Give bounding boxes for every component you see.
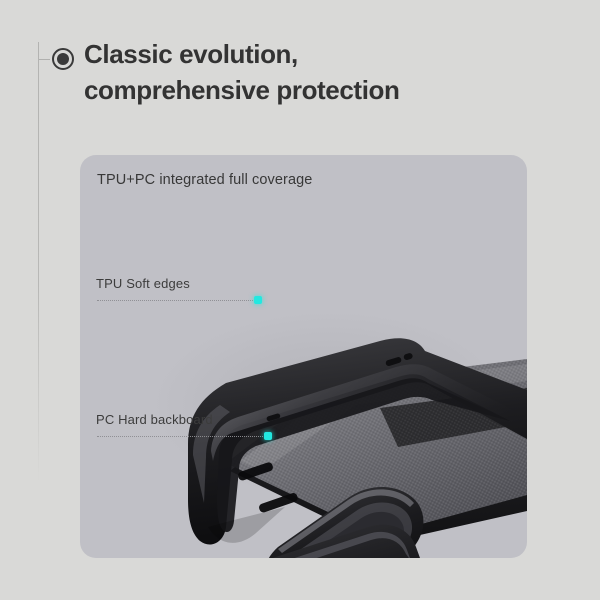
callout-marker-dot xyxy=(254,296,262,304)
header: Classic evolution, comprehensive protect… xyxy=(0,0,600,155)
target-radio-icon xyxy=(52,48,74,70)
product-illustration xyxy=(80,155,527,558)
vertical-rule-decoration xyxy=(38,42,39,482)
page-title: Classic evolution, comprehensive protect… xyxy=(84,36,554,108)
rule-tick-decoration xyxy=(39,59,50,60)
callout-marker-dot xyxy=(264,432,272,440)
feature-card: TPU+PC integrated full coverage xyxy=(80,155,527,558)
callout-label: TPU Soft edges xyxy=(96,276,190,291)
callout-leader-line xyxy=(97,300,257,301)
product-image xyxy=(80,155,527,558)
page-title-line-2: comprehensive protection xyxy=(84,72,554,108)
target-radio-icon-dot xyxy=(57,53,69,65)
page-title-line-1: Classic evolution, xyxy=(84,36,554,72)
callout-label: PC Hard backboard xyxy=(96,412,213,427)
callout-leader-line xyxy=(97,436,267,437)
card-title: TPU+PC integrated full coverage xyxy=(97,172,312,188)
